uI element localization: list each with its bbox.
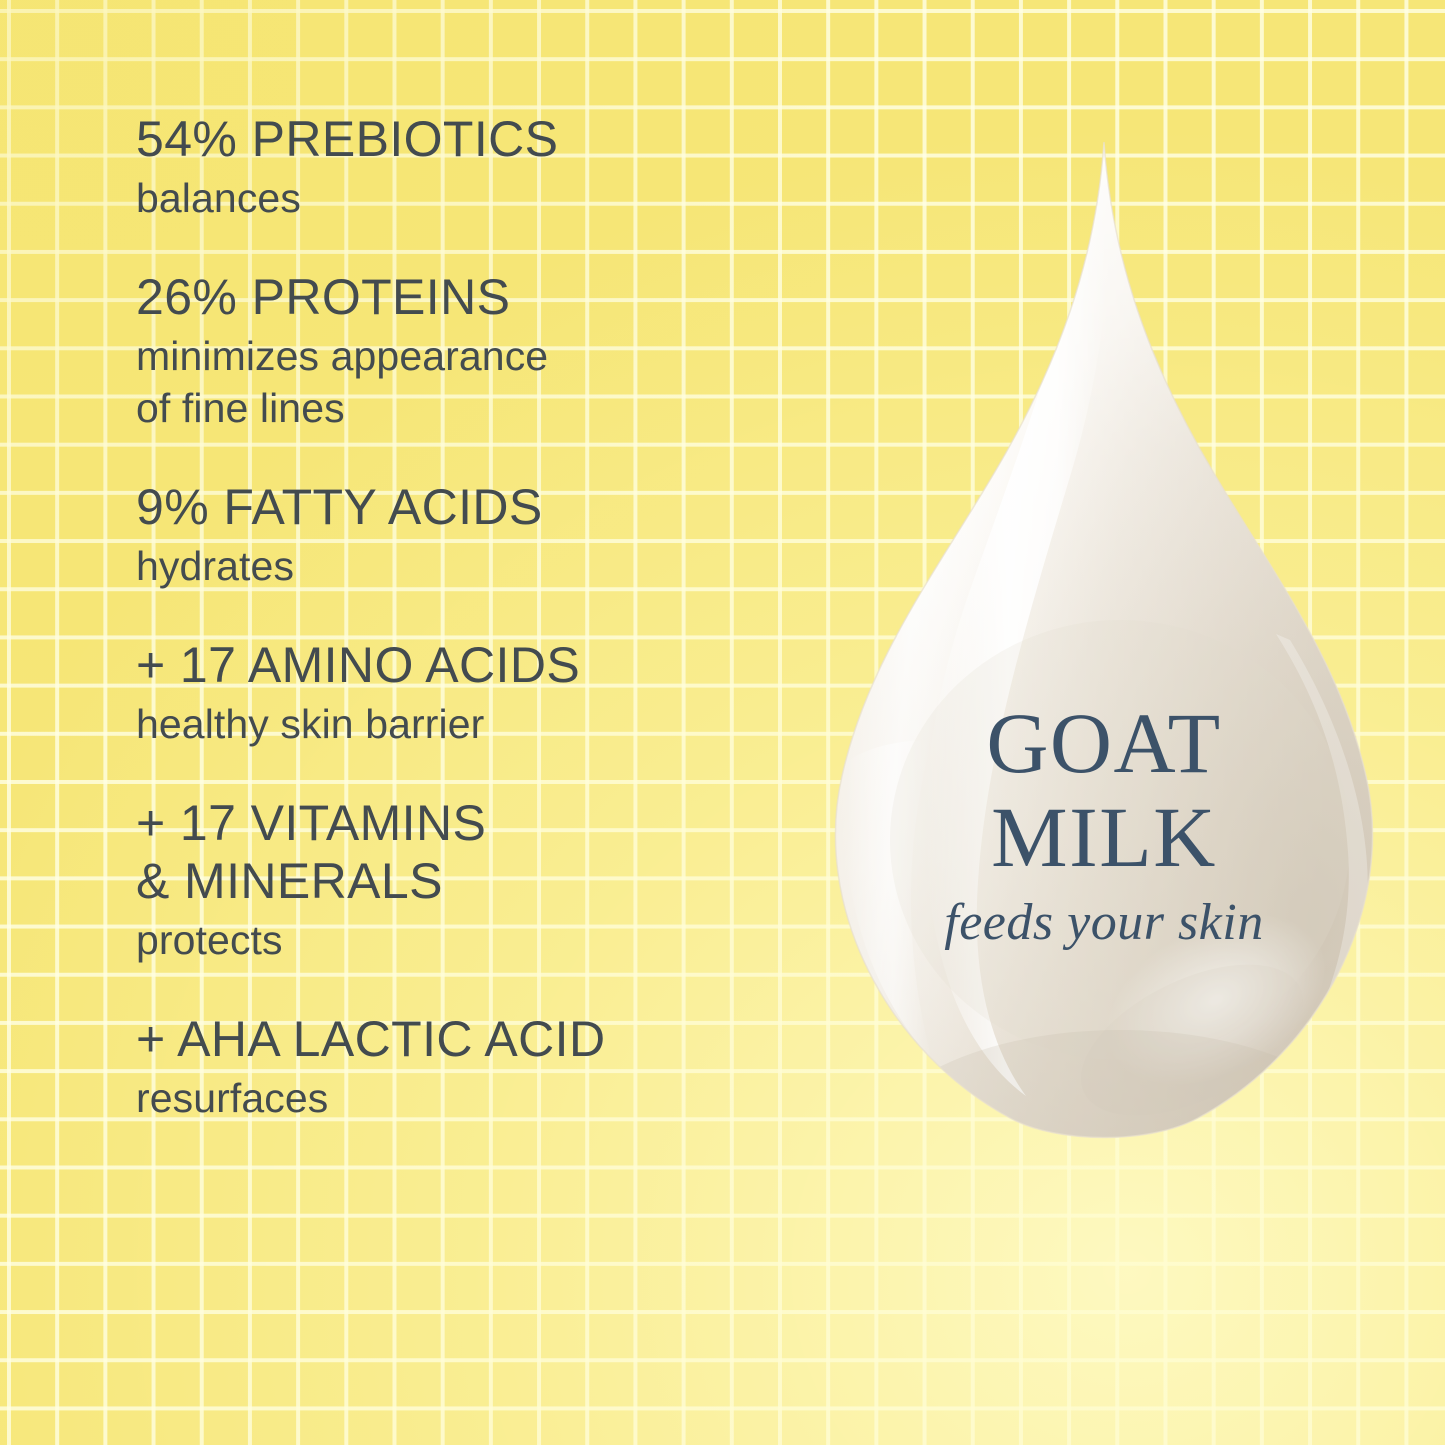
fact-title: 9% FATTY ACIDS [136,478,836,536]
ingredient-fact-list: 54% PREBIOTICS balances 26% PROTEINS min… [136,110,836,1124]
fact-benefit: resurfaces [136,1072,836,1124]
fact-title: 54% PREBIOTICS [136,110,836,168]
fact-item-prebiotics: 54% PREBIOTICS balances [136,110,836,224]
fact-benefit: hydrates [136,540,836,592]
milk-droplet-icon [820,140,1388,1160]
fact-title: + 17 AMINO ACIDS [136,636,836,694]
fact-benefit: healthy skin barrier [136,698,836,750]
fact-item-fatty-acids: 9% FATTY ACIDS hydrates [136,478,836,592]
fact-benefit: minimizes appearance of fine lines [136,330,836,434]
droplet-body [780,120,1440,1270]
fact-title: + 17 VITAMINS & MINERALS [136,794,836,910]
fact-item-aha-lactic-acid: + AHA LACTIC ACID resurfaces [136,1010,836,1124]
poster-canvas: 54% PREBIOTICS balances 26% PROTEINS min… [0,0,1445,1445]
fact-benefit: protects [136,914,836,966]
fact-benefit: balances [136,172,836,224]
fact-item-vitamins-minerals: + 17 VITAMINS & MINERALS protects [136,794,836,966]
milk-droplet-illustration [820,140,1388,1160]
fact-item-amino-acids: + 17 AMINO ACIDS healthy skin barrier [136,636,836,750]
fact-item-proteins: 26% PROTEINS minimizes appearance of fin… [136,268,836,434]
fact-title: + AHA LACTIC ACID [136,1010,836,1068]
fact-title: 26% PROTEINS [136,268,836,326]
